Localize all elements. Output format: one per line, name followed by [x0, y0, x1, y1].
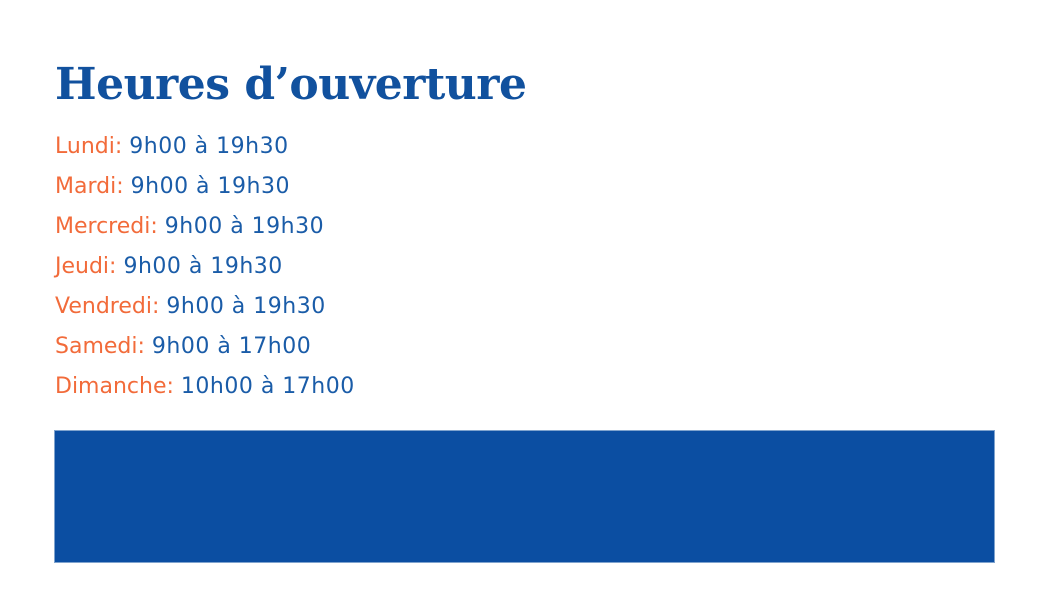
- day-label: Lundi:: [55, 134, 122, 159]
- day-label: Jeudi:: [55, 254, 116, 279]
- time-value: 9h00 à 19h30: [166, 294, 325, 319]
- list-item: Dimanche:10h00 à 17h00: [55, 373, 655, 413]
- time-value: 9h00 à 19h30: [123, 254, 282, 279]
- time-value: 9h00 à 17h00: [152, 334, 311, 359]
- time-value: 9h00 à 19h30: [131, 174, 290, 199]
- day-label: Mercredi:: [55, 214, 158, 239]
- list-item: Vendredi:9h00 à 19h30: [55, 293, 655, 333]
- day-label: Vendredi:: [55, 294, 159, 319]
- list-item: Jeudi:9h00 à 19h30: [55, 253, 655, 293]
- list-item: Lundi:9h00 à 19h30: [55, 133, 655, 173]
- time-value: 9h00 à 19h30: [165, 214, 324, 239]
- page-canvas: Heures d’ouverture Lundi:9h00 à 19h30 Ma…: [0, 0, 1050, 600]
- time-value: 9h00 à 19h30: [129, 134, 288, 159]
- blue-banner-block: [54, 430, 995, 563]
- opening-hours-list: Lundi:9h00 à 19h30 Mardi:9h00 à 19h30 Me…: [55, 133, 655, 413]
- time-value: 10h00 à 17h00: [181, 374, 355, 399]
- day-label: Samedi:: [55, 334, 145, 359]
- page-title: Heures d’ouverture: [55, 62, 526, 108]
- list-item: Mercredi:9h00 à 19h30: [55, 213, 655, 253]
- list-item: Mardi:9h00 à 19h30: [55, 173, 655, 213]
- list-item: Samedi:9h00 à 17h00: [55, 333, 655, 373]
- day-label: Mardi:: [55, 174, 124, 199]
- day-label: Dimanche:: [55, 374, 174, 399]
